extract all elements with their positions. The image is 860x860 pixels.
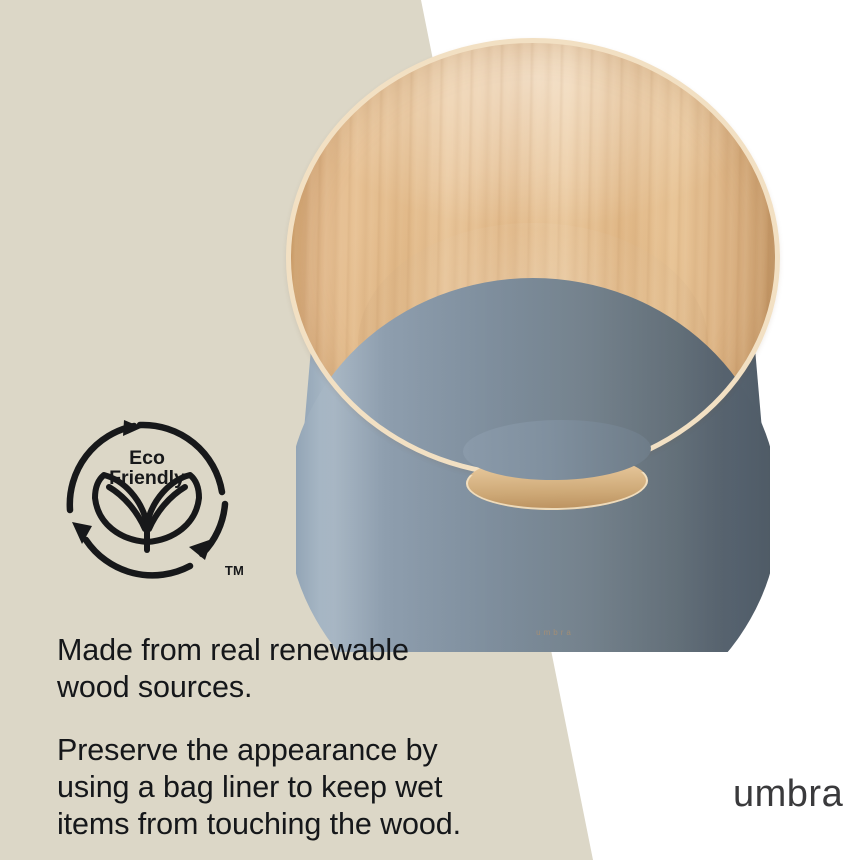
product-image-waste-bin: umbra xyxy=(268,42,798,657)
product-marketing-image: umbra xyxy=(0,0,860,860)
bin-embossed-brand: umbra xyxy=(500,628,610,637)
bin-handle-cutout xyxy=(466,454,648,510)
umbra-wordmark: umbra xyxy=(733,775,843,813)
marketing-copy: Made from real renewable wood sources. P… xyxy=(57,632,477,843)
copy-paragraph-2: Preserve the appearance by using a bag l… xyxy=(57,732,477,843)
eco-badge-line1: Eco xyxy=(129,447,165,469)
eco-badge-line2: Friendly xyxy=(109,467,185,489)
eco-friendly-leaves-recycle-icon: Eco Friendly xyxy=(62,414,232,584)
copy-paragraph-1: Made from real renewable wood sources. xyxy=(57,632,477,706)
trademark-symbol: TM xyxy=(225,563,244,578)
eco-friendly-badge: Eco Friendly TM xyxy=(62,414,232,584)
